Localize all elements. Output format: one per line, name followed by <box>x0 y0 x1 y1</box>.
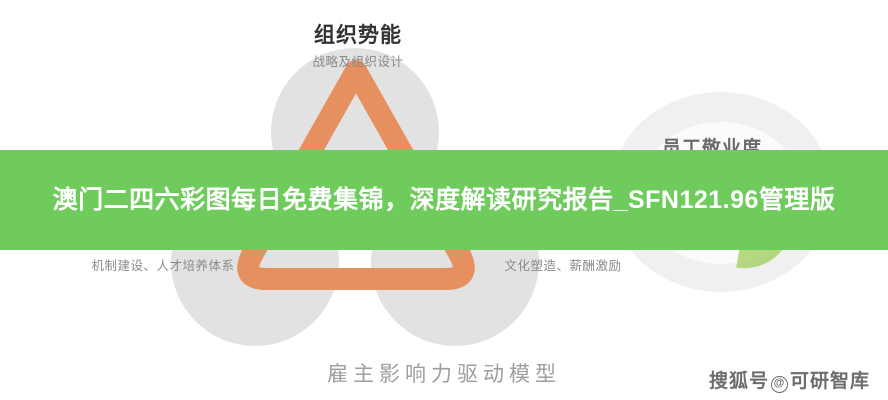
node-subtitle-top: 战略及组织设计 <box>243 51 473 70</box>
green-overlay-banner: 澳门二四六彩图每日免费集锦，深度解读研究报告_SFN121.96管理版 <box>0 150 888 250</box>
logo-suffix-text: 可研智库 <box>790 371 870 392</box>
node-label-top: 组织势能 战略及组织设计 <box>243 24 473 70</box>
overlay-title-text: 澳门二四六彩图每日免费集锦，深度解读研究报告_SFN121.96管理版 <box>27 183 862 217</box>
at-sign-icon: @ <box>771 376 788 393</box>
logo-prefix-text: 搜狐号 <box>709 371 769 392</box>
source-logo-watermark: 搜狐号@可研智库 <box>709 366 870 393</box>
node-subtitle-left: 机制建设、人才培养体系 <box>48 255 278 274</box>
screenshot-canvas: 可研智库 三要素 组织势能 战略及组织设计 组织内能 机制建设、人才培养体系 组… <box>0 0 888 400</box>
node-title-top: 组织势能 <box>243 24 473 48</box>
